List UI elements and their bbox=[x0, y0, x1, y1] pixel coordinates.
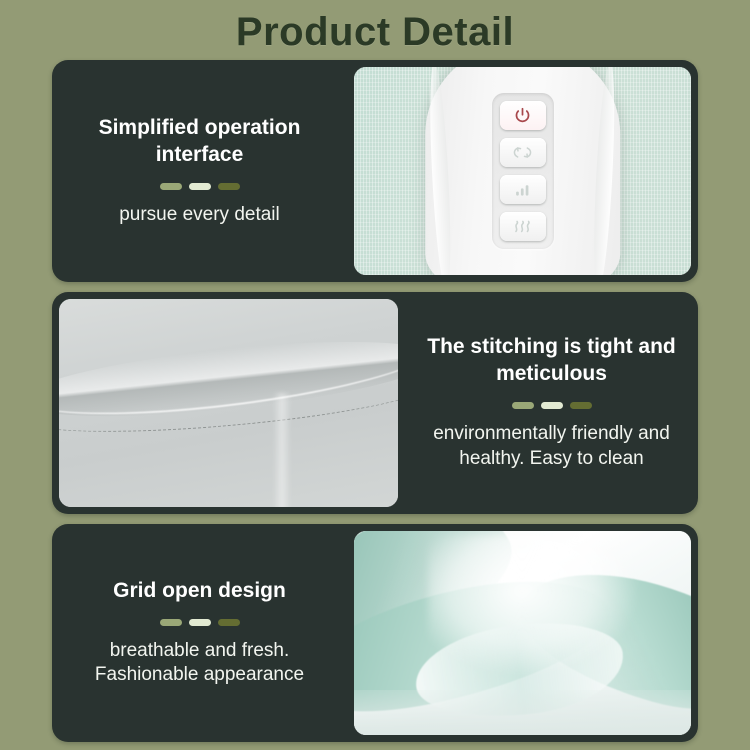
detail-card-1: Simplified operation interface pursue ev… bbox=[52, 60, 698, 282]
divider-dash-1 bbox=[160, 619, 182, 626]
card-3-subline: breathable and fresh. Fashionable appear… bbox=[66, 639, 334, 688]
divider-dash-3 bbox=[218, 183, 240, 190]
divider-dash-1 bbox=[512, 402, 534, 409]
heat-button[interactable] bbox=[500, 212, 546, 241]
card-2-divider bbox=[512, 402, 592, 409]
page-title: Product Detail bbox=[0, 0, 750, 58]
stitching-closeup-photo bbox=[59, 299, 398, 507]
card-2-headline: The stitching is tight and meticulous bbox=[424, 334, 679, 388]
card-3-divider bbox=[160, 619, 240, 626]
divider-dash-1 bbox=[160, 183, 182, 190]
detail-card-2: The stitching is tight and meticulous en… bbox=[52, 292, 698, 514]
fabric-haze bbox=[428, 535, 637, 674]
card-2-image-panel bbox=[59, 299, 398, 507]
power-icon bbox=[513, 106, 532, 125]
card-1-subline: pursue every detail bbox=[119, 203, 280, 228]
card-3-image-panel bbox=[354, 531, 691, 735]
fabric-floor-shadow bbox=[354, 690, 691, 735]
divider-dash-2 bbox=[189, 619, 211, 626]
card-2-subline: environmentally friendly and healthy. Ea… bbox=[415, 422, 688, 471]
level-bars-icon bbox=[512, 182, 533, 198]
heat-waves-icon bbox=[511, 218, 534, 235]
power-button[interactable] bbox=[500, 101, 546, 130]
card-1-divider bbox=[160, 183, 240, 190]
divider-dash-2 bbox=[189, 183, 211, 190]
divider-dash-3 bbox=[218, 619, 240, 626]
card-2-text-panel: The stitching is tight and meticulous en… bbox=[405, 292, 698, 514]
card-3-text-panel: Grid open design breathable and fresh. F… bbox=[52, 524, 347, 742]
rotation-button[interactable] bbox=[500, 138, 546, 167]
divider-dash-3 bbox=[570, 402, 592, 409]
card-3-headline: Grid open design bbox=[113, 578, 286, 605]
intensity-button[interactable] bbox=[500, 175, 546, 204]
detail-card-3: Grid open design breathable and fresh. F… bbox=[52, 524, 698, 742]
rotation-arrows-icon bbox=[512, 144, 533, 161]
control-panel-photo bbox=[354, 67, 691, 275]
divider-dash-2 bbox=[541, 402, 563, 409]
card-1-image-panel bbox=[354, 67, 691, 275]
card-1-text-panel: Simplified operation interface pursue ev… bbox=[52, 60, 347, 282]
fabric-fold bbox=[273, 393, 291, 507]
card-1-headline: Simplified operation interface bbox=[75, 115, 325, 169]
mint-fabric-photo bbox=[354, 531, 691, 735]
button-strip bbox=[492, 93, 554, 249]
